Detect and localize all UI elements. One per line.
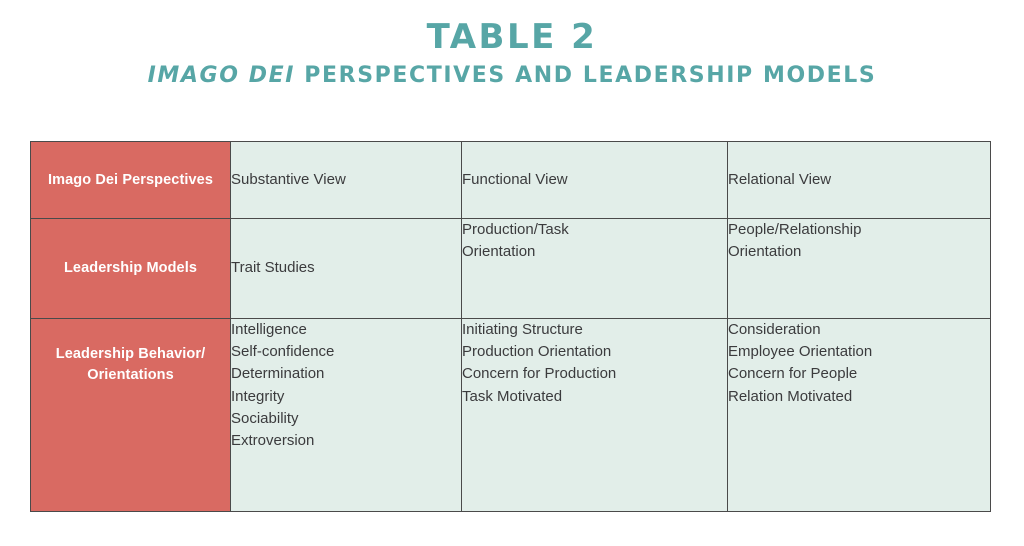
cell-content: People/Relationship Orientation bbox=[728, 219, 990, 263]
page-subtitle: IMAGO DEI PERSPECTIVES AND LEADERSHIP MO… bbox=[0, 63, 1024, 89]
table-row: Leadership Behavior/ Orientations Intell… bbox=[31, 319, 991, 512]
cell-line: Orientation bbox=[462, 241, 727, 263]
cell-content: Relational View bbox=[728, 169, 990, 191]
table-figure-page: TABLE 2 IMAGO DEI PERSPECTIVES AND LEADE… bbox=[0, 0, 1024, 546]
title-block: TABLE 2 IMAGO DEI PERSPECTIVES AND LEADE… bbox=[0, 18, 1024, 89]
cell-task-behavior-list: Initiating Structure Production Orientat… bbox=[462, 319, 728, 512]
perspectives-leadership-table: Imago Dei Perspectives Substantive View … bbox=[30, 141, 991, 512]
cell-line: Concern for People bbox=[728, 363, 990, 385]
subtitle-italic-term: IMAGO DEI bbox=[148, 63, 295, 88]
cell-line: People/Relationship bbox=[728, 219, 990, 241]
cell-line: Consideration bbox=[728, 319, 990, 341]
row-label-imago-dei-perspectives: Imago Dei Perspectives bbox=[31, 142, 231, 219]
cell-line: Extroversion bbox=[231, 430, 461, 452]
cell-substantive-view: Substantive View bbox=[231, 142, 462, 219]
cell-line: Concern for Production bbox=[462, 363, 727, 385]
label-line: Orientations bbox=[87, 367, 174, 383]
cell-functional-view: Functional View bbox=[462, 142, 728, 219]
cell-line: Self-confidence bbox=[231, 341, 461, 363]
label-line: Imago Dei bbox=[48, 172, 118, 188]
label-line: Perspectives bbox=[122, 172, 213, 188]
cell-line: Task Motivated bbox=[462, 386, 727, 408]
label-line: Leadership bbox=[56, 346, 134, 362]
cell-content: Functional View bbox=[462, 169, 727, 191]
cell-line: Relational View bbox=[728, 169, 990, 191]
cell-line: Production/Task bbox=[462, 219, 727, 241]
label-line: Behavior/ bbox=[138, 346, 205, 362]
cell-line: Orientation bbox=[728, 241, 990, 263]
cell-line: Initiating Structure bbox=[462, 319, 727, 341]
cell-people-behavior-list: Consideration Employee Orientation Conce… bbox=[728, 319, 991, 512]
row-label-text: Leadership Behavior/ Orientations bbox=[31, 319, 230, 385]
cell-line: Integrity bbox=[231, 386, 461, 408]
row-label-leadership-behavior-orientations: Leadership Behavior/ Orientations bbox=[31, 319, 231, 512]
subtitle-rest: PERSPECTIVES AND LEADERSHIP MODELS bbox=[295, 63, 876, 88]
cell-line: Employee Orientation bbox=[728, 341, 990, 363]
cell-content: Production/Task Orientation bbox=[462, 219, 727, 263]
cell-content: Consideration Employee Orientation Conce… bbox=[728, 319, 990, 408]
row-label-leadership-models: Leadership Models bbox=[31, 219, 231, 319]
cell-relational-view: Relational View bbox=[728, 142, 991, 219]
cell-content: Trait Studies bbox=[231, 257, 461, 279]
cell-content: Intelligence Self-confidence Determinati… bbox=[231, 319, 461, 452]
cell-production-task-orientation: Production/Task Orientation bbox=[462, 219, 728, 319]
cell-line: Intelligence bbox=[231, 319, 461, 341]
cell-people-relationship-orientation: People/Relationship Orientation bbox=[728, 219, 991, 319]
page-title: TABLE 2 bbox=[0, 18, 1024, 57]
cell-line: Relation Motivated bbox=[728, 386, 990, 408]
cell-line: Substantive View bbox=[231, 169, 461, 191]
row-label-text: Imago Dei Perspectives bbox=[31, 170, 230, 191]
cell-line: Sociability bbox=[231, 408, 461, 430]
label-line: Leadership Models bbox=[64, 260, 197, 276]
cell-line: Determination bbox=[231, 363, 461, 385]
cell-line: Trait Studies bbox=[231, 257, 461, 279]
table-row: Leadership Models Trait Studies Producti… bbox=[31, 219, 991, 319]
cell-content: Initiating Structure Production Orientat… bbox=[462, 319, 727, 408]
cell-line: Production Orientation bbox=[462, 341, 727, 363]
cell-trait-studies: Trait Studies bbox=[231, 219, 462, 319]
cell-line: Functional View bbox=[462, 169, 727, 191]
table-row: Imago Dei Perspectives Substantive View … bbox=[31, 142, 991, 219]
cell-trait-behavior-list: Intelligence Self-confidence Determinati… bbox=[231, 319, 462, 512]
row-label-text: Leadership Models bbox=[31, 258, 230, 279]
cell-content: Substantive View bbox=[231, 169, 461, 191]
